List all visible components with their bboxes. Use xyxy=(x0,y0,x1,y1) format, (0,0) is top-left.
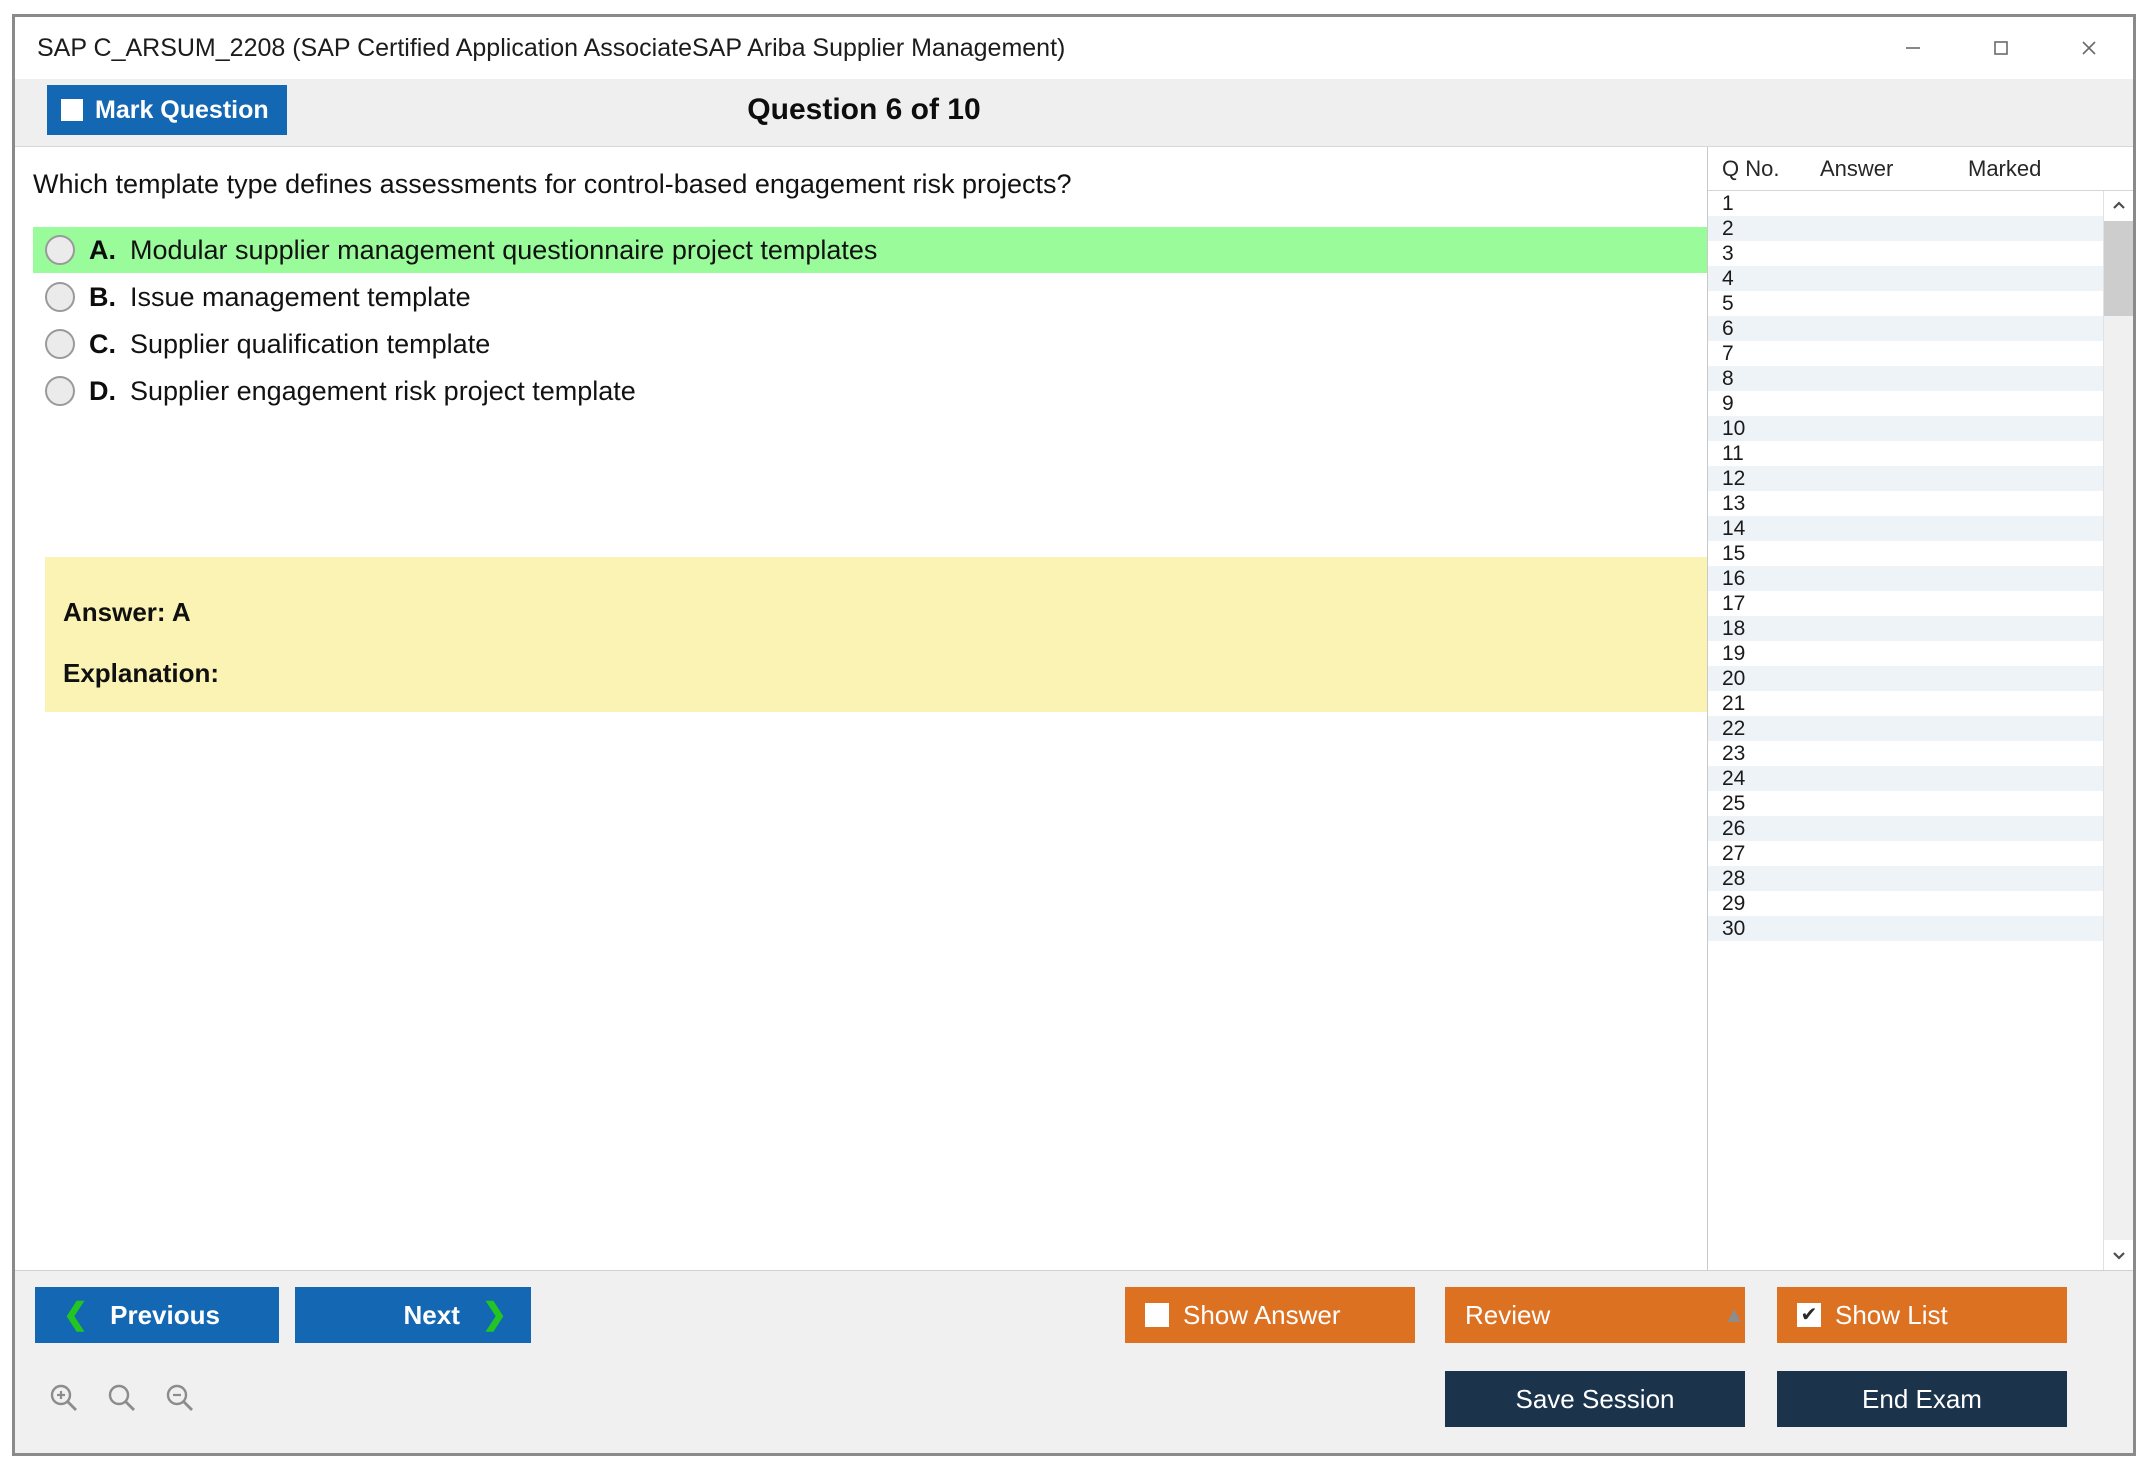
question-text: Which template type defines assessments … xyxy=(33,169,1072,200)
save-session-button[interactable]: Save Session xyxy=(1445,1371,1745,1427)
question-list-row-number: 19 xyxy=(1708,642,1819,666)
question-list-row[interactable]: 9 xyxy=(1708,391,2103,416)
end-exam-button[interactable]: End Exam xyxy=(1777,1371,2067,1427)
body-area: Which template type defines assessments … xyxy=(15,147,2133,1271)
question-list-row[interactable]: 27 xyxy=(1708,841,2103,866)
question-list-row[interactable]: 10 xyxy=(1708,416,2103,441)
close-icon[interactable] xyxy=(2045,17,2133,79)
question-list-scroll-area: 1234567891011121314151617181920212223242… xyxy=(1708,191,2133,1270)
maximize-icon[interactable] xyxy=(1957,17,2045,79)
option-letter-a: A. xyxy=(89,235,116,266)
question-pane: Which template type defines assessments … xyxy=(15,147,1707,1270)
question-list-row[interactable]: 4 xyxy=(1708,266,2103,291)
question-list-row-number: 22 xyxy=(1708,717,1819,741)
question-list-row-number: 13 xyxy=(1708,492,1819,516)
question-list-row-number: 18 xyxy=(1708,617,1819,641)
question-list-row[interactable]: 7 xyxy=(1708,341,2103,366)
question-list-row[interactable]: 6 xyxy=(1708,316,2103,341)
title-bar: SAP C_ARSUM_2208 (SAP Certified Applicat… xyxy=(15,17,2133,79)
question-list-row[interactable]: 1 xyxy=(1708,191,2103,216)
question-list-row[interactable]: 19 xyxy=(1708,641,2103,666)
question-list-row[interactable]: 16 xyxy=(1708,566,2103,591)
question-list-scrollbar[interactable] xyxy=(2103,191,2133,1270)
column-header-answer: Answer xyxy=(1820,156,1968,182)
exam-application-window: SAP C_ARSUM_2208 (SAP Certified Applicat… xyxy=(12,14,2136,1456)
show-answer-label: Show Answer xyxy=(1183,1300,1341,1331)
explanation-line: Explanation: xyxy=(63,658,1707,689)
question-list-panel: Q No. Answer Marked 12345678910111213141… xyxy=(1707,147,2133,1270)
column-header-qno: Q No. xyxy=(1708,156,1820,182)
answer-explanation-box: Answer: A Explanation: xyxy=(45,557,1707,712)
column-header-marked: Marked xyxy=(1968,156,2108,182)
option-letter-b: B. xyxy=(89,282,116,313)
question-list-row[interactable]: 8 xyxy=(1708,366,2103,391)
question-list-row-number: 24 xyxy=(1708,767,1819,791)
option-text-b: Issue management template xyxy=(130,282,471,313)
toolbar: Mark Question Question 6 of 10 xyxy=(15,79,2133,147)
question-counter: Question 6 of 10 xyxy=(15,93,2133,127)
question-list-row-number: 15 xyxy=(1708,542,1819,566)
question-list-row[interactable]: 29 xyxy=(1708,891,2103,916)
option-letter-c: C. xyxy=(89,329,116,360)
next-button-label: Next xyxy=(404,1300,460,1331)
footer-toolbar: ❮ Previous Next ❯ Show Answer Review ▲ xyxy=(15,1271,2133,1453)
question-list-row[interactable]: 25 xyxy=(1708,791,2103,816)
question-list-row-number: 25 xyxy=(1708,792,1819,816)
review-dropdown[interactable]: Review ▲ xyxy=(1445,1287,1745,1343)
option-row-d[interactable]: D. Supplier engagement risk project temp… xyxy=(33,368,1707,414)
option-row-a[interactable]: A. Modular supplier management questionn… xyxy=(33,227,1707,273)
show-answer-button[interactable]: Show Answer xyxy=(1125,1287,1415,1343)
question-list-row[interactable]: 14 xyxy=(1708,516,2103,541)
answer-line: Answer: A xyxy=(63,597,1707,628)
radio-button-c[interactable] xyxy=(45,329,75,359)
question-list-row-number: 4 xyxy=(1708,267,1819,291)
question-list-row-number: 30 xyxy=(1708,917,1819,941)
question-list-row[interactable]: 5 xyxy=(1708,291,2103,316)
question-list-row[interactable]: 18 xyxy=(1708,616,2103,641)
show-list-label: Show List xyxy=(1835,1300,1948,1331)
question-list-row[interactable]: 26 xyxy=(1708,816,2103,841)
question-list-row-number: 5 xyxy=(1708,292,1819,316)
question-list-row[interactable]: 15 xyxy=(1708,541,2103,566)
option-text-c: Supplier qualification template xyxy=(130,329,490,360)
question-list-row[interactable]: 2 xyxy=(1708,216,2103,241)
question-list-row-number: 11 xyxy=(1708,442,1819,466)
question-list-row-number: 16 xyxy=(1708,567,1819,591)
question-list-row-number: 26 xyxy=(1708,817,1819,841)
question-list-row-number: 28 xyxy=(1708,867,1819,891)
radio-button-a[interactable] xyxy=(45,235,75,265)
option-text-d: Supplier engagement risk project templat… xyxy=(130,376,636,407)
window-controls xyxy=(1869,17,2133,79)
minimize-icon[interactable] xyxy=(1869,17,1957,79)
previous-button-label: Previous xyxy=(110,1300,220,1331)
chevron-right-icon: ❯ xyxy=(482,1300,507,1330)
scroll-down-icon[interactable] xyxy=(2104,1240,2133,1270)
question-list-row[interactable]: 30 xyxy=(1708,916,2103,941)
chevron-left-icon: ❮ xyxy=(63,1300,88,1330)
question-list-row-number: 27 xyxy=(1708,842,1819,866)
question-list-row[interactable]: 11 xyxy=(1708,441,2103,466)
option-letter-d: D. xyxy=(89,376,116,407)
question-list-row-number: 23 xyxy=(1708,742,1819,766)
chevron-up-icon: ▲ xyxy=(1723,1304,1745,1326)
question-list-row-number: 7 xyxy=(1708,342,1819,366)
zoom-reset-icon[interactable] xyxy=(105,1381,139,1420)
question-list-row[interactable]: 17 xyxy=(1708,591,2103,616)
question-list-row-number: 3 xyxy=(1708,242,1819,266)
zoom-out-icon[interactable] xyxy=(163,1381,197,1420)
question-list-row-number: 9 xyxy=(1708,392,1819,416)
question-list-row-number: 6 xyxy=(1708,317,1819,341)
show-list-button[interactable]: ✔ Show List xyxy=(1777,1287,2067,1343)
question-list-row-number: 14 xyxy=(1708,517,1819,541)
option-row-b[interactable]: B. Issue management template xyxy=(33,274,1707,320)
previous-button[interactable]: ❮ Previous xyxy=(35,1287,279,1343)
question-list-row[interactable]: 23 xyxy=(1708,741,2103,766)
option-row-c[interactable]: C. Supplier qualification template xyxy=(33,321,1707,367)
question-list-row[interactable]: 3 xyxy=(1708,241,2103,266)
radio-button-b[interactable] xyxy=(45,282,75,312)
question-list-row[interactable]: 24 xyxy=(1708,766,2103,791)
question-list-row-number: 8 xyxy=(1708,367,1819,391)
zoom-in-icon[interactable] xyxy=(47,1381,81,1420)
window-title: SAP C_ARSUM_2208 (SAP Certified Applicat… xyxy=(15,34,1869,63)
question-list-row-number: 21 xyxy=(1708,692,1819,716)
radio-button-d[interactable] xyxy=(45,376,75,406)
option-text-a: Modular supplier management questionnair… xyxy=(130,235,877,266)
question-list-row-number: 2 xyxy=(1708,217,1819,241)
review-dropdown-label: Review xyxy=(1465,1300,1723,1331)
zoom-controls xyxy=(47,1381,197,1420)
end-exam-label: End Exam xyxy=(1862,1384,1982,1415)
scrollbar-track[interactable] xyxy=(2104,221,2133,1240)
question-list-header: Q No. Answer Marked xyxy=(1708,147,2133,191)
question-list-row[interactable]: 20 xyxy=(1708,666,2103,691)
question-list-row[interactable]: 28 xyxy=(1708,866,2103,891)
scroll-up-icon[interactable] xyxy=(2104,191,2133,221)
question-list-row-number: 17 xyxy=(1708,592,1819,616)
question-list-rows: 1234567891011121314151617181920212223242… xyxy=(1708,191,2103,1270)
question-list-row[interactable]: 13 xyxy=(1708,491,2103,516)
question-list-row[interactable]: 12 xyxy=(1708,466,2103,491)
show-list-checkbox[interactable]: ✔ xyxy=(1797,1303,1821,1327)
next-button[interactable]: Next ❯ xyxy=(295,1287,531,1343)
scrollbar-thumb[interactable] xyxy=(2104,221,2133,316)
save-session-label: Save Session xyxy=(1516,1384,1675,1415)
question-list-row-number: 1 xyxy=(1708,192,1819,216)
question-list-row-number: 20 xyxy=(1708,667,1819,691)
question-list-row-number: 10 xyxy=(1708,417,1819,441)
question-list-row-number: 29 xyxy=(1708,892,1819,916)
question-list-row[interactable]: 22 xyxy=(1708,716,2103,741)
question-list-row[interactable]: 21 xyxy=(1708,691,2103,716)
show-answer-checkbox[interactable] xyxy=(1145,1303,1169,1327)
question-list-row-number: 12 xyxy=(1708,467,1819,491)
